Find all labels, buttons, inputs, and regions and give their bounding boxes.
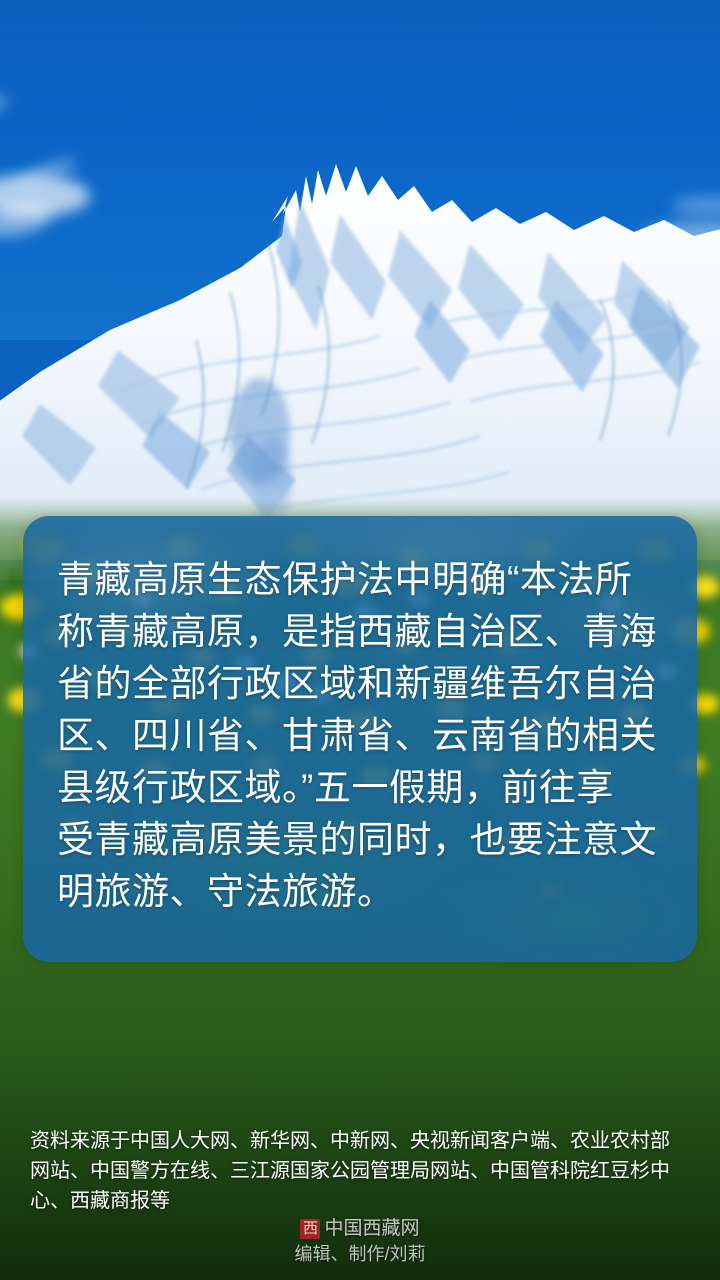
source-line: 心、西藏商报等: [30, 1186, 696, 1216]
quote-line: 青藏高原生态保护法中明确“本法所: [57, 554, 667, 606]
quote-line: 称青藏高原，是指西藏自治区、青海: [57, 606, 667, 658]
quote-line: 明旅游、守法旅游。: [57, 866, 667, 918]
credits-block: 西 中国西藏网 编辑、制作/刘莉: [0, 1218, 720, 1265]
tibet-net-logo-icon: 西: [300, 1219, 320, 1239]
source-attribution: 资料来源于中国人大网、新华网、中新网、央视新闻客户端、农业农村部 网站、中国警方…: [30, 1126, 696, 1216]
quote-line: 受青藏高原美景的同时，也要注意文: [57, 814, 667, 866]
site-logo-text: 中国西藏网: [324, 1218, 419, 1240]
site-logo: 西 中国西藏网: [300, 1218, 419, 1240]
quote-line: 省的全部行政区域和新疆维吾尔自治: [57, 658, 667, 710]
quote-card: 青藏高原生态保护法中明确“本法所 称青藏高原，是指西藏自治区、青海 省的全部行政…: [23, 516, 697, 962]
editor-credit: 编辑、制作/刘莉: [0, 1243, 720, 1265]
quote-card-body: 青藏高原生态保护法中明确“本法所 称青藏高原，是指西藏自治区、青海 省的全部行政…: [23, 516, 697, 918]
quote-line: 县级行政区域。”五一假期，前往享: [57, 762, 667, 814]
poster-root: 青藏高原生态保护法中明确“本法所 称青藏高原，是指西藏自治区、青海 省的全部行政…: [0, 0, 720, 1280]
source-line: 资料来源于中国人大网、新华网、中新网、央视新闻客户端、农业农村部: [30, 1126, 696, 1156]
quote-line: 区、四川省、甘肃省、云南省的相关: [57, 710, 667, 762]
source-line: 网站、中国警方在线、三江源国家公园管理局网站、中国管科院红豆杉中: [30, 1156, 696, 1186]
